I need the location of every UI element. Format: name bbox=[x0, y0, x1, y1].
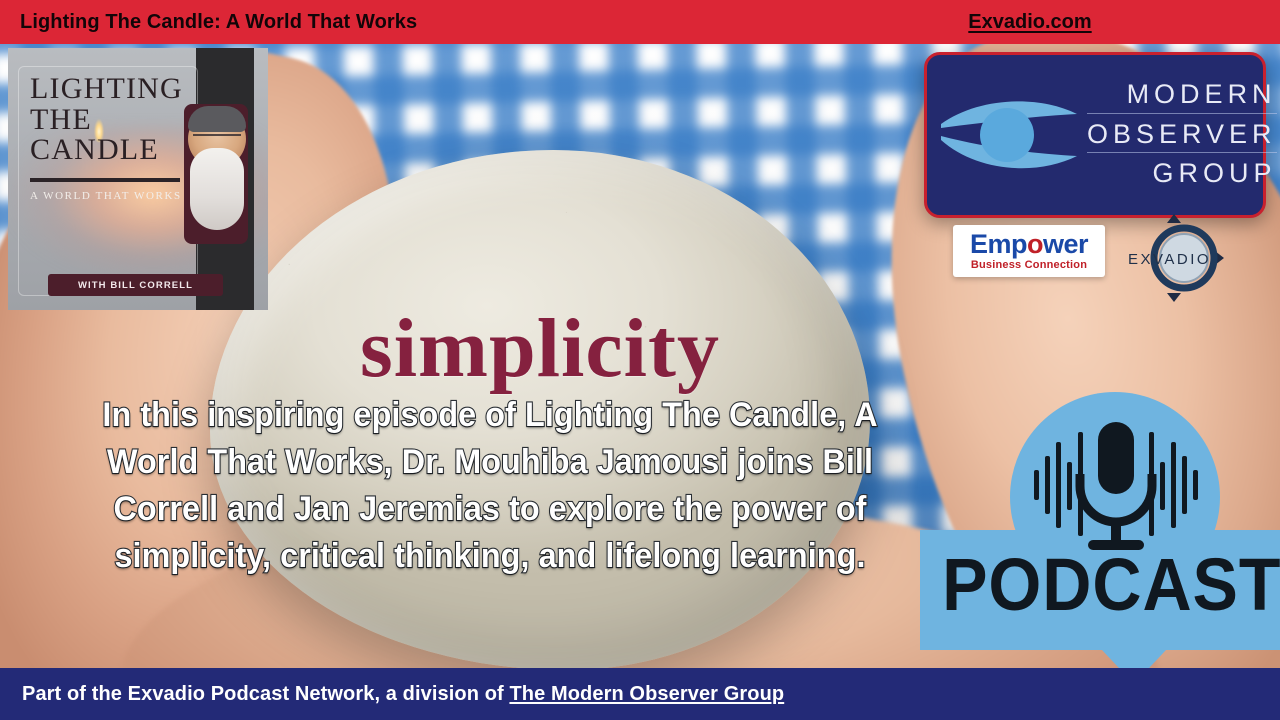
cover-title: LIGHTING THE CANDLE bbox=[30, 74, 190, 166]
portrait-glasses bbox=[193, 134, 241, 146]
modern-observer-group-logo[interactable]: MODERN OBSERVER GROUP bbox=[924, 52, 1266, 218]
empower-tagline: Business Connection bbox=[970, 260, 1088, 271]
exvadio-logo[interactable]: EXVADIO bbox=[1120, 212, 1228, 304]
empower-word-prefix: Emp bbox=[970, 229, 1027, 259]
mog-line-observer: OBSERVER bbox=[1087, 118, 1277, 154]
podcast-cover-art[interactable]: LIGHTING THE CANDLE A WORLD THAT WORKS W… bbox=[8, 48, 268, 310]
empower-word-suffix: wer bbox=[1043, 229, 1088, 259]
cover-divider bbox=[30, 178, 180, 182]
exvadio-wordmark: EXVADIO bbox=[1128, 251, 1211, 268]
cover-host-label: WITH BILL CORRELL bbox=[78, 280, 193, 291]
episode-description: In this inspiring episode of Lighting Th… bbox=[63, 392, 918, 580]
header-bar: Lighting The Candle: A World That Works … bbox=[0, 0, 1280, 44]
exvadio-dial-icon: EXVADIO bbox=[1120, 212, 1228, 304]
footer-link[interactable]: The Modern Observer Group bbox=[509, 683, 784, 705]
footer-text: Part of the Exvadio Podcast Network, a d… bbox=[22, 683, 784, 706]
cover-title-line3: CANDLE bbox=[30, 135, 190, 166]
mog-line-modern: MODERN bbox=[1087, 78, 1277, 114]
mog-wordmark: MODERN OBSERVER GROUP bbox=[1087, 78, 1280, 193]
eye-icon bbox=[937, 80, 1087, 190]
episode-cover-slide: simplicity Lighting The Candle: A World … bbox=[0, 0, 1280, 720]
cover-title-line1: LIGHTING bbox=[30, 74, 190, 105]
mog-line-group: GROUP bbox=[1087, 157, 1277, 192]
site-link[interactable]: Exvadio.com bbox=[390, 11, 1280, 34]
podcast-badge[interactable]: PODCAST bbox=[980, 392, 1280, 692]
empower-arrow-o-icon: o bbox=[1027, 229, 1043, 259]
cover-host-badge: WITH BILL CORRELL bbox=[48, 274, 223, 296]
empower-business-connection-logo[interactable]: Empower Business Connection bbox=[953, 225, 1105, 277]
cover-subtitle: A WORLD THAT WORKS bbox=[30, 190, 200, 202]
cover-title-line2: THE bbox=[30, 105, 190, 136]
footer-bar: Part of the Exvadio Podcast Network, a d… bbox=[0, 668, 1280, 720]
portrait-beard bbox=[190, 148, 244, 230]
stone-word: simplicity bbox=[210, 300, 870, 397]
page-title: Lighting The Candle: A World That Works bbox=[20, 11, 417, 34]
host-portrait bbox=[184, 104, 248, 244]
podcast-badge-label: PODCAST bbox=[942, 542, 1266, 627]
portrait-hair bbox=[188, 106, 246, 132]
footer-text-before: Part of the Exvadio Podcast Network, a d… bbox=[22, 683, 509, 705]
empower-wordmark: Empower bbox=[970, 231, 1088, 258]
